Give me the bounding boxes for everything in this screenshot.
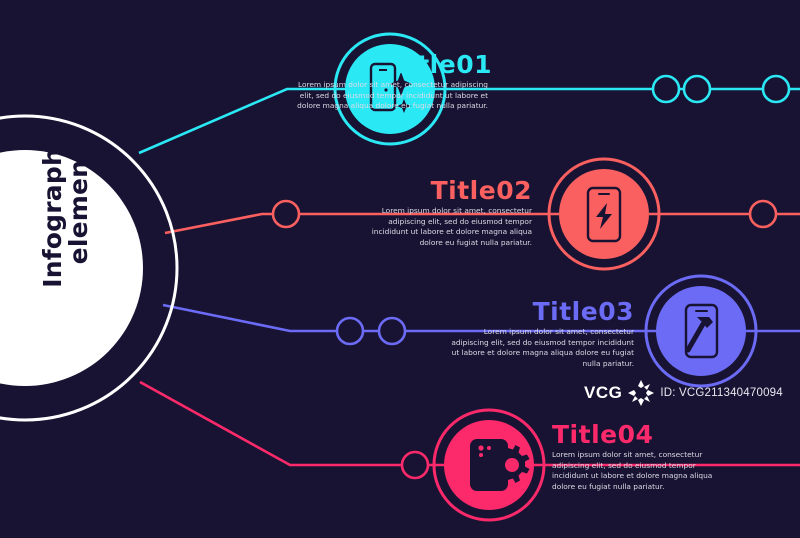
icon-badge-row2[interactable] [549, 159, 659, 269]
row1-title: Title01 [292, 52, 492, 77]
text-block-row3: Title03 Lorem ipsum dolor sit amet, cons… [450, 299, 634, 369]
connector-dot-row4-a [402, 452, 428, 478]
row3-title: Title03 [450, 299, 634, 324]
row4-body: Lorem ipsum dolor sit amet, consectetur … [552, 450, 730, 492]
connector-dot-row1-a [653, 76, 679, 102]
connector-dot-row2-b [750, 201, 776, 227]
text-block-row2: Title02 Lorem ipsum dolor sit amet, cons… [370, 178, 532, 248]
row2-body: Lorem ipsum dolor sit amet, consectetur … [370, 206, 532, 248]
row4-title: Title04 [552, 422, 730, 447]
row3-body: Lorem ipsum dolor sit amet, consectetur … [450, 327, 634, 369]
connector-dot-row1-b [684, 76, 710, 102]
text-block-row4: Title04 Lorem ipsum dolor sit amet, cons… [552, 422, 730, 492]
infographic-canvas: Infographic element Title01 Lorem ipsum … [0, 0, 800, 538]
icon-badge-row4[interactable] [434, 410, 544, 520]
icon-badge-row3[interactable] [646, 276, 756, 386]
text-block-row1: Title01 Lorem ipsum dolor sit amet, cons… [292, 52, 492, 112]
hub-inner-disc [0, 150, 143, 386]
connector-dot-row1-c [763, 76, 789, 102]
row1-body: Lorem ipsum dolor sit amet, consectetur … [292, 80, 488, 112]
connector-dot-row2-a [273, 201, 299, 227]
connector-dot-row3-b [379, 318, 405, 344]
row2-title: Title02 [370, 178, 532, 203]
hub-circle [0, 116, 177, 420]
connector-dot-row3-a [337, 318, 363, 344]
